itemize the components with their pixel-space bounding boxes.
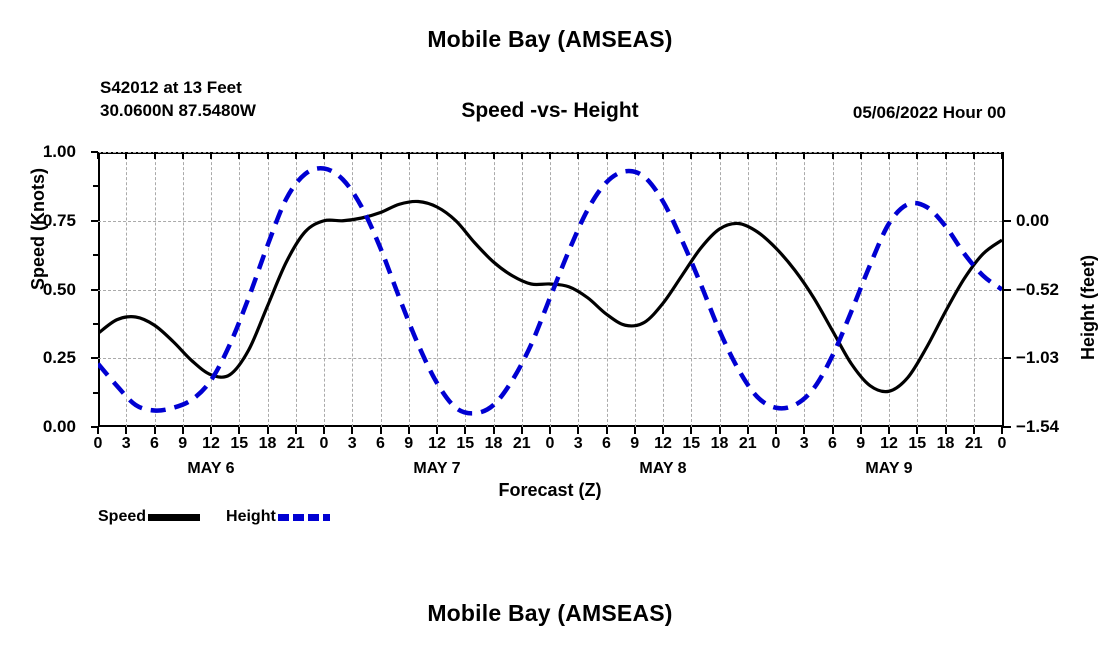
x-tick bbox=[267, 427, 269, 434]
y-tick-major bbox=[91, 220, 98, 222]
series-line-height bbox=[98, 168, 1002, 413]
legend-label-height: Height bbox=[226, 508, 276, 526]
x-tick bbox=[719, 427, 721, 434]
x-axis-tick-label: 0 bbox=[772, 435, 781, 453]
x-axis-title: Forecast (Z) bbox=[98, 480, 1002, 501]
x-tick bbox=[464, 427, 466, 434]
x-axis-tick-label: 3 bbox=[122, 435, 131, 453]
y-axis-right-tick-label: −0.52 bbox=[1002, 280, 1059, 300]
x-axis-tick-label: 18 bbox=[485, 435, 503, 453]
x-tick bbox=[803, 427, 805, 434]
x-tick bbox=[238, 427, 240, 434]
x-tick bbox=[690, 427, 692, 434]
x-axis-day-label: MAY 7 bbox=[413, 460, 460, 478]
x-axis-tick-label: 0 bbox=[998, 435, 1007, 453]
x-tick bbox=[888, 427, 890, 434]
y-axis-left-tick-label: 0.00 bbox=[43, 417, 80, 437]
x-tick bbox=[549, 427, 551, 434]
x-axis-tick-label: 21 bbox=[513, 435, 531, 453]
x-tick bbox=[408, 427, 410, 434]
x-tick bbox=[323, 427, 325, 434]
x-axis-tick-label: 12 bbox=[654, 435, 672, 453]
x-axis-tick-label: 3 bbox=[800, 435, 809, 453]
y-tick-major bbox=[91, 357, 98, 359]
x-axis-tick-label: 12 bbox=[202, 435, 220, 453]
x-axis-tick-label: 9 bbox=[856, 435, 865, 453]
model-run-time: 05/06/2022 Hour 00 bbox=[0, 103, 1006, 123]
x-axis-tick-label: 15 bbox=[682, 435, 700, 453]
x-axis-tick-label: 12 bbox=[428, 435, 446, 453]
y-axis-right-tick-label: −1.54 bbox=[1002, 417, 1059, 437]
x-tick bbox=[577, 427, 579, 434]
x-tick bbox=[973, 427, 975, 434]
y-axis-left-tick-label: 0.25 bbox=[43, 348, 80, 368]
y-axis-right-tick-label: −1.03 bbox=[1002, 348, 1059, 368]
x-tick bbox=[154, 427, 156, 434]
x-tick bbox=[295, 427, 297, 434]
x-axis-tick-label: 15 bbox=[908, 435, 926, 453]
plot-area: 0.000.250.500.751.00 −1.54−1.03−0.520.00… bbox=[98, 152, 1002, 427]
x-tick bbox=[182, 427, 184, 434]
x-tick bbox=[1001, 427, 1003, 434]
x-axis-tick-label: 21 bbox=[965, 435, 983, 453]
x-tick bbox=[493, 427, 495, 434]
y-axis-left-tick-label: 1.00 bbox=[43, 142, 80, 162]
chart-title-bottom: Mobile Bay (AMSEAS) bbox=[0, 600, 1100, 627]
x-axis-tick-label: 6 bbox=[376, 435, 385, 453]
station-name: S42012 at 13 Feet bbox=[100, 76, 256, 99]
x-axis-day-label: MAY 9 bbox=[865, 460, 912, 478]
x-axis-tick-label: 3 bbox=[348, 435, 357, 453]
x-tick bbox=[747, 427, 749, 434]
x-axis-tick-label: 0 bbox=[94, 435, 103, 453]
x-tick bbox=[916, 427, 918, 434]
legend-label-speed: Speed bbox=[98, 508, 146, 526]
x-axis-tick-label: 0 bbox=[546, 435, 555, 453]
x-axis-tick-label: 3 bbox=[574, 435, 583, 453]
x-tick bbox=[210, 427, 212, 434]
x-axis-tick-label: 18 bbox=[937, 435, 955, 453]
x-tick bbox=[945, 427, 947, 434]
chart-legend: Speed Height bbox=[98, 508, 330, 526]
x-tick bbox=[634, 427, 636, 434]
x-tick bbox=[436, 427, 438, 434]
x-axis-tick-label: 0 bbox=[320, 435, 329, 453]
x-tick bbox=[351, 427, 353, 434]
x-axis-tick-label: 18 bbox=[711, 435, 729, 453]
x-tick bbox=[521, 427, 523, 434]
x-tick bbox=[860, 427, 862, 434]
x-axis-tick-label: 9 bbox=[630, 435, 639, 453]
x-tick bbox=[775, 427, 777, 434]
x-tick bbox=[606, 427, 608, 434]
x-tick bbox=[662, 427, 664, 434]
series-lines bbox=[98, 152, 1002, 427]
x-axis-tick-label: 9 bbox=[404, 435, 413, 453]
x-axis-tick-label: 21 bbox=[739, 435, 757, 453]
x-axis-tick-label: 6 bbox=[602, 435, 611, 453]
x-tick bbox=[380, 427, 382, 434]
y-axis-left-tick-label: 0.50 bbox=[43, 280, 80, 300]
chart-title-top: Mobile Bay (AMSEAS) bbox=[0, 26, 1100, 53]
legend-item-speed: Speed bbox=[98, 508, 200, 526]
y-tick-major bbox=[91, 289, 98, 291]
x-axis-day-label: MAY 6 bbox=[187, 460, 234, 478]
x-axis-day-label: MAY 8 bbox=[639, 460, 686, 478]
legend-swatch-height-icon bbox=[278, 514, 330, 521]
x-axis-tick-label: 6 bbox=[828, 435, 837, 453]
y-axis-right-tick-label: 0.00 bbox=[1002, 211, 1049, 231]
legend-item-height: Height bbox=[226, 508, 330, 526]
x-axis-tick-label: 6 bbox=[150, 435, 159, 453]
x-tick bbox=[125, 427, 127, 434]
x-axis-tick-label: 15 bbox=[456, 435, 474, 453]
series-line-speed bbox=[98, 201, 1002, 391]
x-tick bbox=[832, 427, 834, 434]
x-axis-tick-label: 21 bbox=[287, 435, 305, 453]
legend-swatch-speed-icon bbox=[148, 514, 200, 521]
x-axis-tick-label: 18 bbox=[259, 435, 277, 453]
x-axis-tick-label: 9 bbox=[178, 435, 187, 453]
x-axis-tick-label: 15 bbox=[230, 435, 248, 453]
y-axis-right-title: Height (feet) bbox=[1078, 255, 1099, 360]
x-axis-tick-label: 12 bbox=[880, 435, 898, 453]
y-axis-left-tick-label: 0.75 bbox=[43, 211, 80, 231]
x-tick bbox=[97, 427, 99, 434]
